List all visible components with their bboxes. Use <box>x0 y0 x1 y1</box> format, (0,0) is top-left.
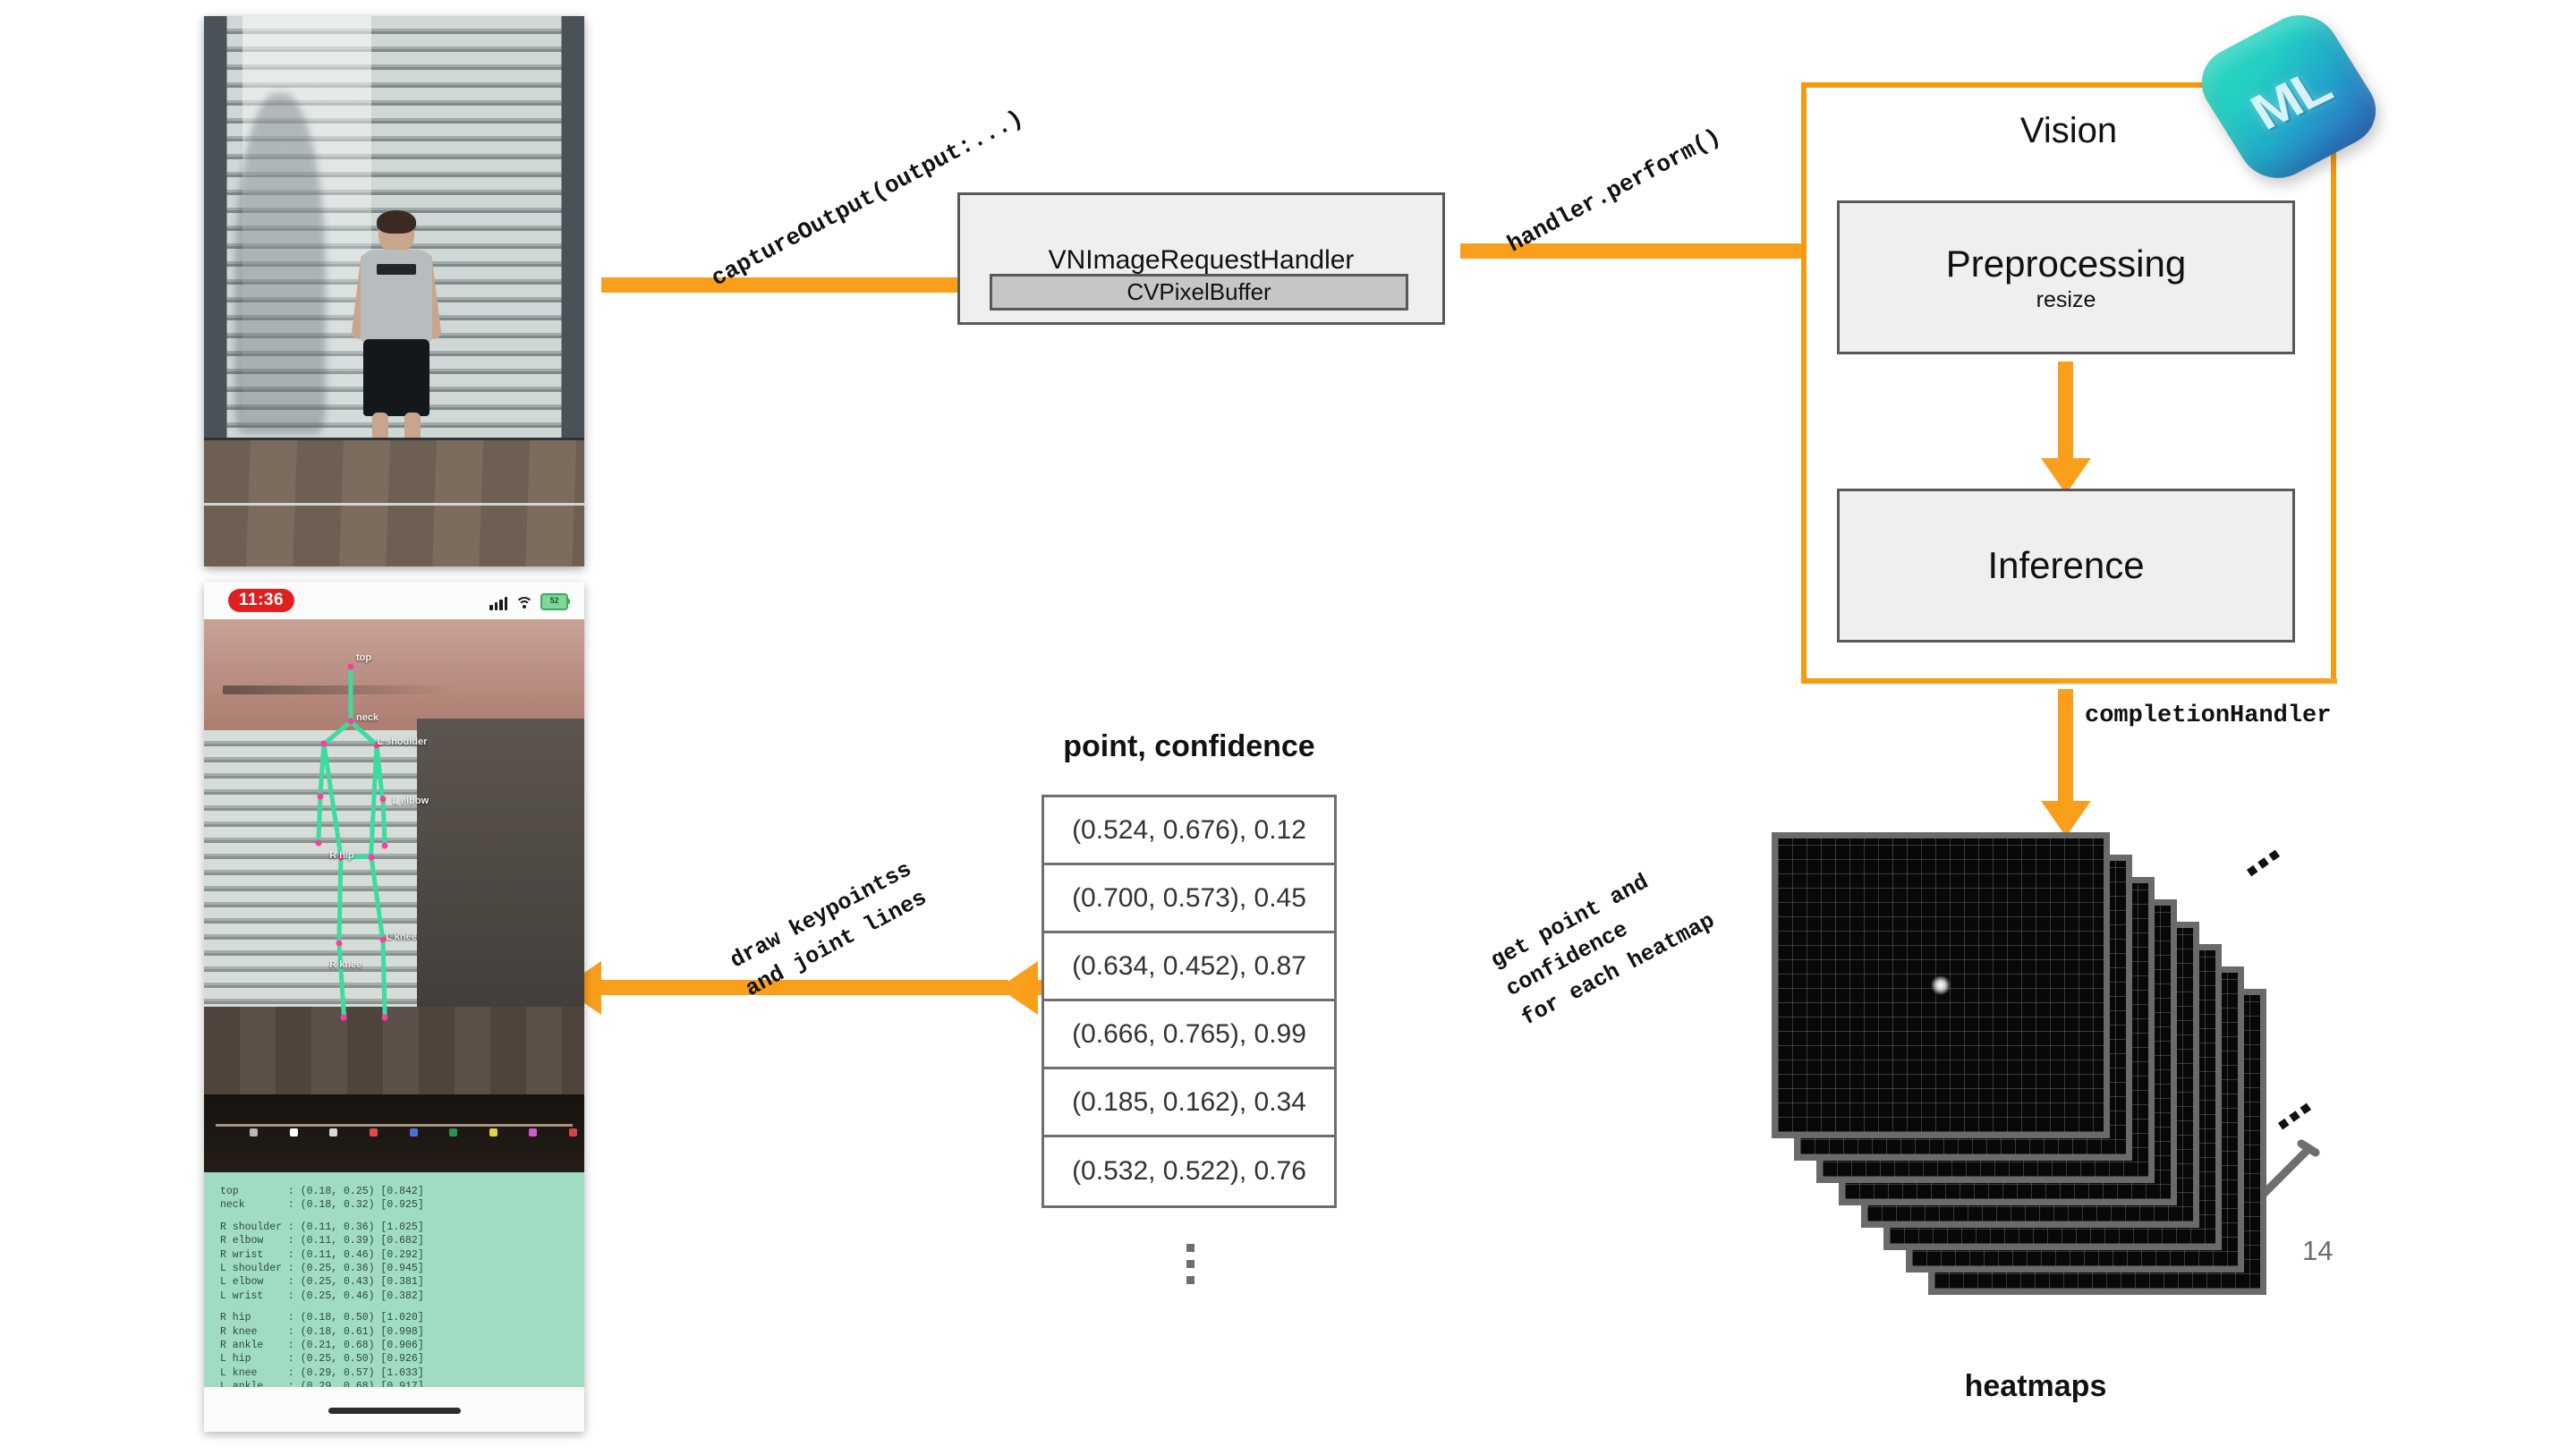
keypoint-label: L shoulder <box>377 736 427 747</box>
player-control-icon[interactable] <box>529 1128 537 1136</box>
label-completion-handler: completionHandler <box>2085 702 2331 729</box>
preprocessing-subtitle: resize <box>2036 287 2096 313</box>
player-control-icon[interactable] <box>250 1128 258 1136</box>
console-line: R shoulder : (0.11, 0.36) [1.025] <box>220 1221 568 1234</box>
source-camera-frame <box>204 16 584 566</box>
skeleton-joint <box>381 1014 387 1020</box>
console-line: R hip : (0.18, 0.50) [1.020] <box>220 1311 568 1324</box>
status-time: 11:36 <box>228 589 294 612</box>
pose-skeleton-overlay: topneckL shoulderL elbowR hipL kneeR kne… <box>204 619 584 1172</box>
ml-icon-label: ML <box>2177 0 2403 200</box>
battery-charging-icon: 52 <box>540 593 568 610</box>
preprocessing-box: Preprocessing resize <box>1837 200 2295 354</box>
home-indicator[interactable] <box>328 1408 461 1414</box>
keypoint-label: R knee <box>329 959 361 970</box>
skeleton-bone <box>380 799 387 847</box>
phone-status-bar: 11:36 52 <box>204 582 584 619</box>
arrow-table-to-pose-render <box>601 980 1008 995</box>
console-line: top : (0.18, 0.25) [0.842] <box>220 1185 568 1198</box>
keypoint-label: neck <box>356 712 378 723</box>
vn-image-request-handler-box: VNImageRequestHandler CVPixelBuffer <box>957 192 1445 325</box>
person-shirt <box>361 250 432 343</box>
keypoint-label: R hip <box>329 850 354 861</box>
skeleton-joint <box>341 1014 347 1020</box>
ground-pavement <box>204 438 584 566</box>
arrow-capture-output <box>601 277 986 293</box>
inference-title: Inference <box>1987 544 2144 587</box>
table-row: (0.634, 0.452), 0.87 <box>1044 933 1334 1001</box>
skeleton-joint <box>369 854 375 860</box>
skeleton-bone <box>370 745 379 857</box>
preprocessing-title: Preprocessing <box>1946 243 2186 285</box>
table-row: (0.666, 0.765), 0.99 <box>1044 1001 1334 1069</box>
player-control-icon[interactable] <box>489 1128 497 1136</box>
heatmaps-count-label: 14 <box>2302 1235 2333 1267</box>
label-get-point-and-confidence: get point and confidence for each heatma… <box>1485 847 1721 1034</box>
shirt-logo <box>377 264 416 275</box>
skeleton-joint <box>381 843 387 849</box>
console-line: L shoulder : (0.25, 0.36) [0.945] <box>220 1262 568 1275</box>
phone-screenshot: 11:36 52 topneckL shoulderL elbowR hipL … <box>204 582 584 1432</box>
skeleton-joint <box>336 940 342 946</box>
table-row: (0.185, 0.162), 0.34 <box>1044 1069 1334 1137</box>
heatmaps-caption: heatmaps <box>1848 1369 2223 1404</box>
console-gap <box>220 1213 568 1221</box>
inference-box: Inference <box>1837 489 2295 643</box>
console-line: L wrist : (0.25, 0.46) [0.382] <box>220 1290 568 1303</box>
phone-video-preview: topneckL shoulderL elbowR hipL kneeR kne… <box>204 619 584 1172</box>
handler-title: VNImageRequestHandler <box>1049 245 1355 276</box>
skeleton-joint <box>379 796 386 802</box>
label-handler-perform: handler.perform() <box>1503 123 1725 258</box>
heatmap-layer <box>1772 832 2110 1138</box>
console-line: L hip : (0.25, 0.50) [0.926] <box>220 1352 568 1366</box>
keypoint-label: L elbow <box>392 796 429 806</box>
keypoint-label: top <box>356 652 371 663</box>
heatmap-peak-blob <box>1931 975 1951 995</box>
arrow-completion-handler <box>2058 689 2073 801</box>
skeleton-joint <box>317 793 323 799</box>
skeleton-bone <box>370 856 386 940</box>
skeleton-bone <box>348 667 353 722</box>
player-control-icon[interactable] <box>370 1128 378 1136</box>
arrow-preprocessing-to-inference <box>2058 362 2073 458</box>
person-hair <box>377 210 416 234</box>
cellular-bars-icon <box>489 596 507 610</box>
cv-pixel-buffer-box: CVPixelBuffer <box>990 274 1408 311</box>
skeleton-joint <box>347 663 353 669</box>
skeleton-joint <box>315 840 321 847</box>
skeleton-bone <box>336 942 346 1017</box>
skeleton-bone <box>380 940 387 1017</box>
person-shorts <box>363 339 429 416</box>
status-icons-group: 52 <box>489 591 568 610</box>
vision-output-connector <box>2058 678 2337 684</box>
table-row: (0.524, 0.676), 0.12 <box>1044 797 1334 865</box>
point-table-ellipsis <box>1186 1244 1194 1284</box>
keypoint-label: L knee <box>386 932 417 942</box>
skeleton-joint <box>320 741 327 747</box>
console-line: R elbow : (0.11, 0.39) [0.682] <box>220 1234 568 1247</box>
point-confidence-title: point, confidence <box>1041 729 1337 764</box>
heatmaps-stack <box>1772 832 2326 1333</box>
point-confidence-table: (0.524, 0.676), 0.12(0.700, 0.573), 0.45… <box>1041 795 1337 1208</box>
player-control-icon[interactable] <box>569 1128 577 1136</box>
table-row: (0.532, 0.522), 0.76 <box>1044 1137 1334 1205</box>
wifi-icon <box>515 597 532 610</box>
skeleton-bone <box>321 744 343 857</box>
player-control-icon[interactable] <box>290 1128 298 1136</box>
skeleton-bone <box>316 796 322 844</box>
console-line: R ankle : (0.21, 0.68) [0.906] <box>220 1339 568 1352</box>
console-line: R wrist : (0.11, 0.46) [0.292] <box>220 1248 568 1262</box>
skeleton-bone <box>336 857 343 943</box>
console-gap <box>220 1303 568 1311</box>
core-ml-icon: ML <box>2210 16 2371 183</box>
phone-keypoint-console: top : (0.18, 0.25) [0.842]neck : (0.18, … <box>204 1172 584 1387</box>
console-line: L elbow : (0.25, 0.43) [0.381] <box>220 1275 568 1289</box>
table-row: (0.700, 0.573), 0.45 <box>1044 865 1334 933</box>
player-control-icon[interactable] <box>329 1128 337 1136</box>
console-line: L knee : (0.29, 0.57) [1.033] <box>220 1366 568 1380</box>
console-line: R knee : (0.18, 0.61) [0.998] <box>220 1325 568 1339</box>
ground-edge-line <box>204 503 584 506</box>
console-line: neck : (0.18, 0.32) [0.925] <box>220 1198 568 1212</box>
person-shadow <box>234 93 326 434</box>
player-control-icon[interactable] <box>449 1128 457 1136</box>
skeleton-joint <box>347 719 353 725</box>
phone-home-bar <box>204 1387 584 1432</box>
player-control-icon[interactable] <box>410 1128 418 1136</box>
